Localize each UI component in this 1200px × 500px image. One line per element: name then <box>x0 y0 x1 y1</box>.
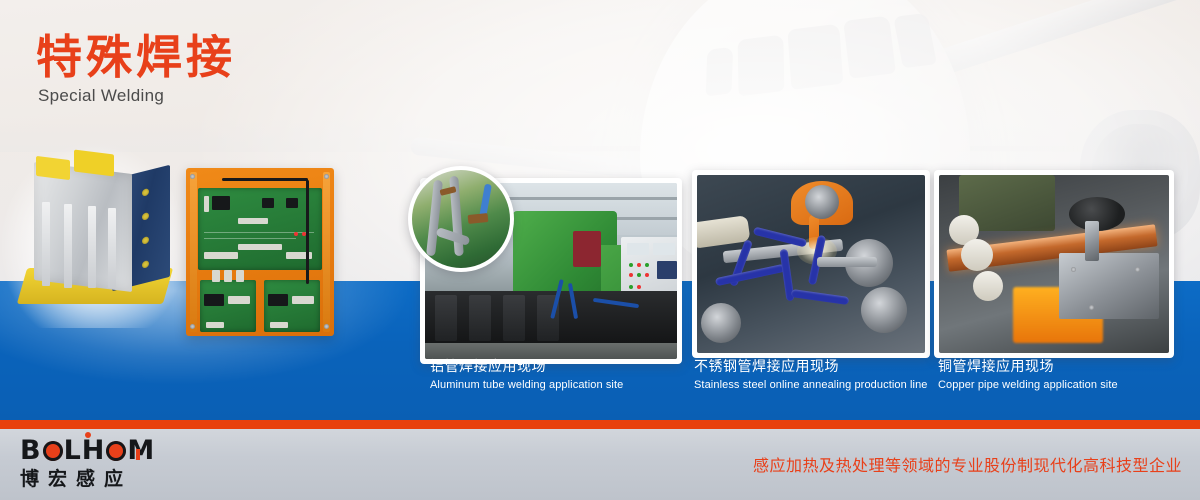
page-title-english: Special Welding <box>38 86 236 106</box>
photo1-red-panel <box>573 231 601 267</box>
photo1-fixture <box>435 295 457 341</box>
product-bus-bar <box>42 202 50 286</box>
pcb-driver-board-right <box>264 280 320 332</box>
cabinet-rail <box>323 172 330 332</box>
photo3-steel-post <box>1085 221 1099 261</box>
cabinet-screw <box>190 324 195 329</box>
photo-image-stainless <box>697 175 925 353</box>
company-logo[interactable]: BLHM 博宏感应 <box>20 437 155 490</box>
pcb-connector <box>270 322 288 328</box>
caption-stainless-steel: 不锈钢管焊接应用现场 Stainless steel online anneal… <box>694 358 928 393</box>
photo1-hmi-screen <box>657 261 677 279</box>
logo-text-part2: LH <box>64 435 106 466</box>
product-yellow-cap <box>36 156 70 180</box>
photo-image-copper <box>939 175 1169 353</box>
photo1-led-red <box>645 273 649 277</box>
cabinet-ribbon-connector <box>212 270 220 282</box>
photo2-roller <box>861 287 907 333</box>
photo1-meter <box>627 243 649 255</box>
caption-english: Stainless steel online annealing product… <box>694 378 928 393</box>
product-bus-bar <box>108 208 116 288</box>
footer-slogan: 感应加热及热处理等领域的专业股份制现代化高科技型企业 <box>753 452 1182 476</box>
photo2-shaft <box>817 257 877 267</box>
photo1-led-red <box>629 273 633 277</box>
photo1-fixture <box>503 295 525 341</box>
logo-chinese-name: 博宏感应 <box>20 468 155 490</box>
banner-root: 特殊焊接 Special Welding <box>0 0 1200 500</box>
cabinet-wire-harness <box>306 180 309 284</box>
product-bus-bar <box>64 204 72 288</box>
caption-chinese: 铜管焊接应用现场 <box>938 358 1118 376</box>
caption-aluminum-tube: 铝管焊接应用现场 Aluminum tube welding applicati… <box>430 358 623 393</box>
caption-english: Copper pipe welding application site <box>938 378 1118 393</box>
circular-inset-image <box>412 170 510 268</box>
photo3-bolt <box>1089 305 1094 310</box>
pcb-driver-board-left <box>200 280 256 332</box>
photo1-led-red <box>637 263 641 267</box>
pcb-connector <box>206 322 224 328</box>
pcb-connector <box>238 244 282 250</box>
logo-text-part1: B <box>20 435 42 466</box>
cabinet-ribbon-connector <box>236 270 244 282</box>
page-title-chinese: 特殊焊接 <box>36 30 236 84</box>
cabinet-screw <box>190 174 195 179</box>
cabinet-ribbon-connector <box>224 270 232 282</box>
cabinet-wire-harness <box>222 178 308 181</box>
photo3-bolt <box>1071 267 1076 272</box>
photo3-ceramic-roller <box>973 271 1003 301</box>
logo-accent-tick-icon <box>136 449 140 460</box>
photo1-led-green <box>629 285 633 289</box>
photo1-led-green <box>629 263 633 267</box>
product-terminal-dot <box>142 260 149 269</box>
photo1-led-green <box>645 263 649 267</box>
pcb-connector <box>238 218 268 224</box>
photo1-fixture <box>469 295 491 341</box>
caption-chinese: 不锈钢管焊接应用现场 <box>694 358 928 376</box>
photo-copper-pipe-site[interactable] <box>934 170 1174 358</box>
photo2-pulley <box>805 185 839 219</box>
photo-circular-inset-cables[interactable] <box>408 166 514 272</box>
photo2-roller <box>701 303 741 343</box>
photo-stainless-steel-site[interactable] <box>692 170 930 358</box>
pcb-chip <box>262 198 274 208</box>
title-block: 特殊焊接 Special Welding <box>36 30 236 106</box>
pcb-chip <box>286 198 298 208</box>
pcb-chip <box>268 294 288 306</box>
caption-copper-pipe: 铜管焊接应用现场 Copper pipe welding application… <box>938 358 1118 393</box>
photo3-steel-fixture <box>1059 253 1159 319</box>
product-bus-bar <box>88 206 96 288</box>
cabinet-rail <box>190 172 197 332</box>
logo-accent-dot-icon <box>85 432 91 438</box>
pcb-label <box>292 296 314 304</box>
pcb-chip <box>204 294 224 306</box>
pcb-connector <box>204 252 238 259</box>
cabinet-screw <box>324 324 329 329</box>
product-photo-induction-module <box>8 150 180 322</box>
product-terminal-dot <box>142 188 149 197</box>
product-terminal-dot <box>142 212 149 221</box>
caption-chinese: 铝管焊接应用现场 <box>430 358 623 376</box>
pcb-trace <box>204 238 296 239</box>
photo3-bolt <box>1135 267 1140 272</box>
inset-copper-part <box>468 213 489 224</box>
photo1-floor <box>425 343 677 359</box>
photo3-ceramic-roller <box>961 239 993 271</box>
photo1-meter <box>653 243 675 255</box>
product-photo-control-cabinet <box>186 168 334 336</box>
photo1-led-green <box>637 273 641 277</box>
pcb-capacitor <box>204 196 209 212</box>
pcb-main-board <box>198 188 322 270</box>
logo-o-ring-icon <box>43 441 63 461</box>
pcb-led <box>294 232 298 236</box>
logo-o-dot-icon <box>106 441 126 461</box>
pcb-label <box>228 296 250 304</box>
red-divider-stripe <box>0 420 1200 429</box>
caption-english: Aluminum tube welding application site <box>430 378 623 393</box>
logo-text-part3: M <box>127 435 155 466</box>
cabinet-screw <box>324 174 329 179</box>
logo-wordmark: BLHM <box>20 437 155 464</box>
product-terminal-dot <box>142 236 149 245</box>
pcb-chip <box>212 196 230 210</box>
photo1-led-red <box>637 285 641 289</box>
